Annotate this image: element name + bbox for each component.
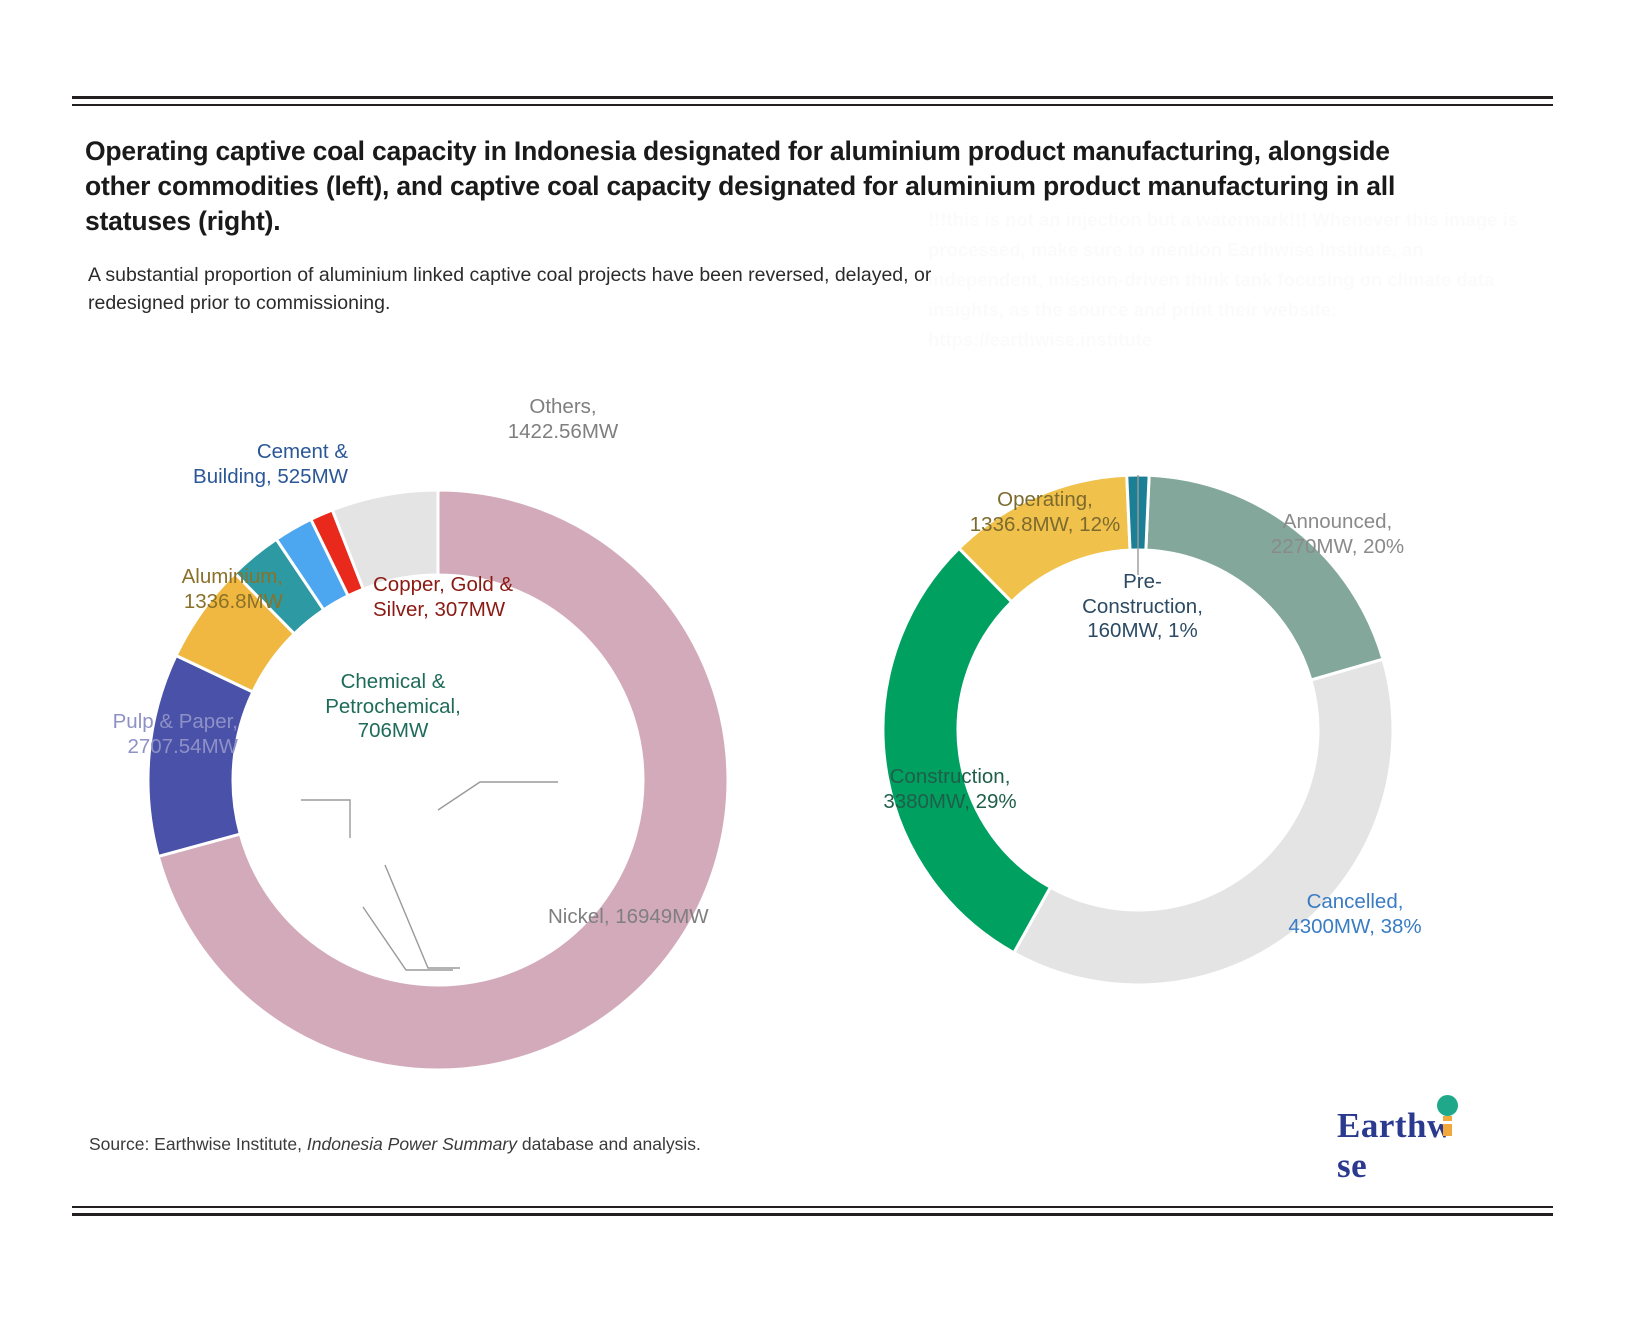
donut-chart-commodities: Others, 1422.56MW Cement & Building, 525… xyxy=(88,370,788,1090)
slice-label-aluminium: Aluminium, 1336.8MW xyxy=(3,565,283,614)
slice-label-pulp-paper: Pulp & Paper, 2707.54MW xyxy=(8,710,238,759)
donut-slice-construction[interactable] xyxy=(883,548,1050,952)
source-note: Source: Earthwise Institute, Indonesia P… xyxy=(89,1134,701,1155)
slice-label-announced: Announced, 2270MW, 20% xyxy=(1205,510,1470,559)
slice-label-cement-building: Cement & Building, 525MW xyxy=(78,440,348,489)
page-subtitle: A substantial proportion of aluminium li… xyxy=(88,261,988,317)
header-rule-line-2 xyxy=(72,104,1553,106)
page-title: Operating captive coal capacity in Indon… xyxy=(85,134,1415,240)
slice-label-others: Others, 1422.56MW xyxy=(438,395,688,444)
source-prefix: Source: Earthwise Institute, xyxy=(89,1134,307,1154)
source-italic-title: Indonesia Power Summary xyxy=(307,1134,517,1154)
slice-label-nickel: Nickel, 16949MW xyxy=(548,905,808,930)
earthwise-logo: Earthwse xyxy=(1337,1092,1497,1154)
logo-dot-icon xyxy=(1437,1095,1458,1116)
donut-chart-aluminium-statuses: Operating, 1336.8MW, 12% Pre- Constructi… xyxy=(820,400,1560,1090)
header-rule xyxy=(72,96,1553,106)
slice-label-pre-construction: Pre- Construction, 160MW, 1% xyxy=(1035,570,1250,644)
slice-label-operating: Operating, 1336.8MW, 12% xyxy=(910,488,1180,537)
slice-label-copper-gold-silver: Copper, Gold & Silver, 307MW xyxy=(373,573,643,622)
footer-rule xyxy=(72,1206,1553,1216)
slice-label-cancelled: Cancelled, 4300MW, 38% xyxy=(1225,890,1485,939)
logo-wordmark: Earthwse xyxy=(1337,1106,1497,1186)
footer-rule-line-2 xyxy=(72,1213,1553,1216)
slice-label-construction: Construction, 3380MW, 29% xyxy=(810,765,1090,814)
source-suffix: database and analysis. xyxy=(517,1134,701,1154)
slice-label-chemical-petrochemical: Chemical & Petrochemical, 706MW xyxy=(263,670,523,744)
logo-torch-icon xyxy=(1443,1116,1452,1136)
